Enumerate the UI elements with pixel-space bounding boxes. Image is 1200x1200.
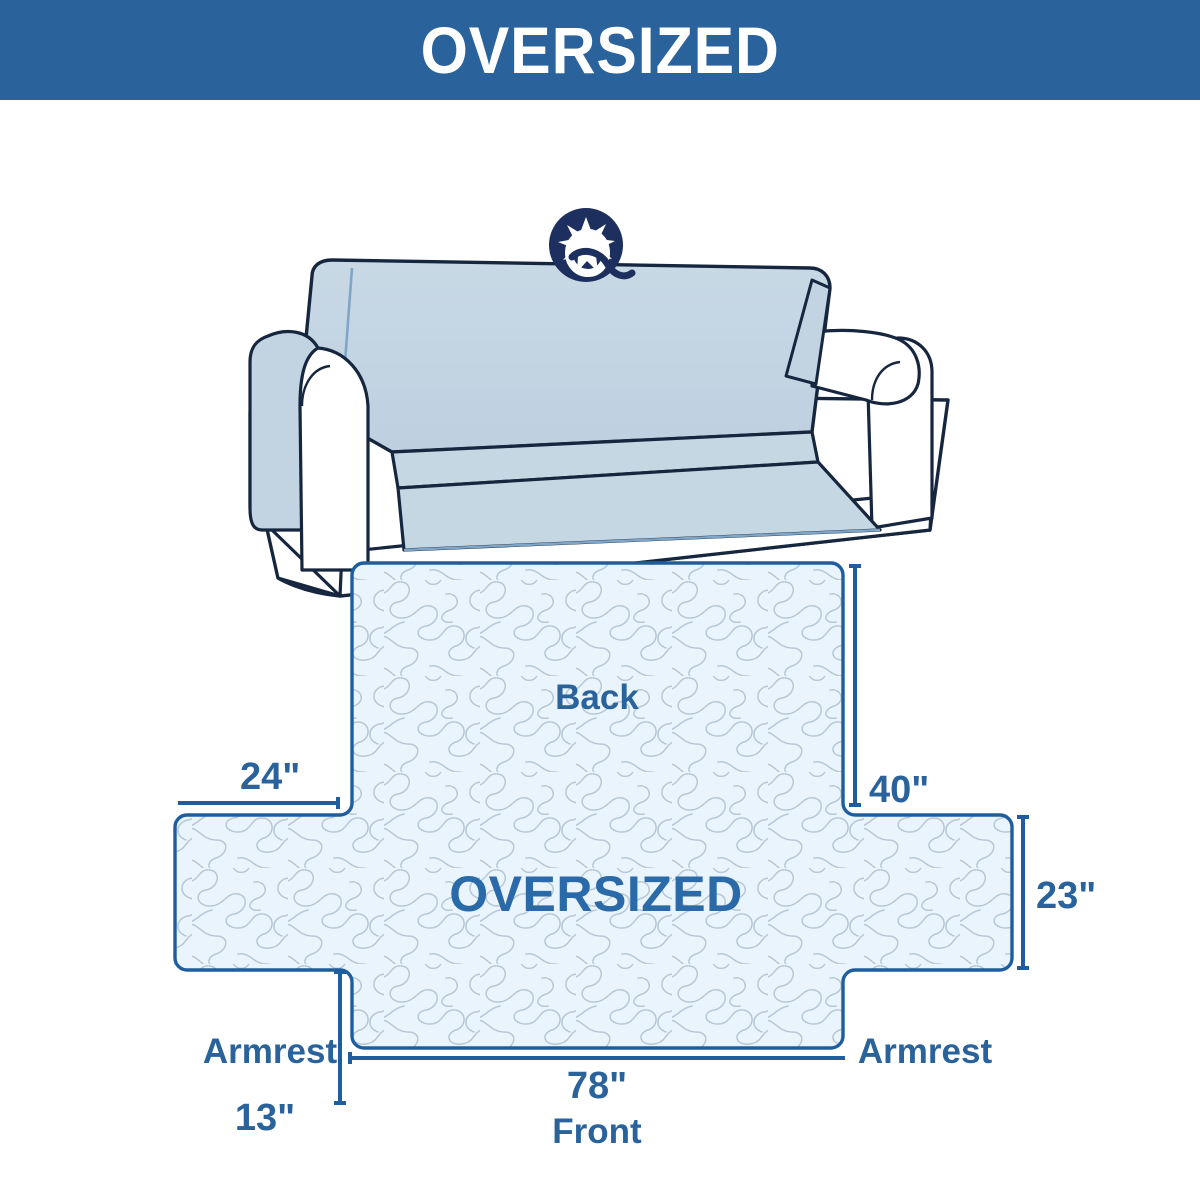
header-banner: OVERSIZED bbox=[0, 0, 1200, 100]
panel-label-armrest-right: Armrest bbox=[858, 1032, 993, 1071]
dimension-armrest-height: 23" bbox=[1017, 817, 1096, 968]
panel-label-front: Front bbox=[552, 1112, 642, 1151]
panel-label-armrest-left: Armrest bbox=[203, 1032, 338, 1071]
panel-label-back: Back bbox=[555, 678, 639, 717]
page-title: OVERSIZED bbox=[420, 17, 779, 83]
pattern-diagram: Back Front Armrest Armrest OVERSIZED 40"… bbox=[175, 563, 1096, 1151]
dimension-value-78: 78" bbox=[567, 1065, 627, 1107]
dimension-value-24: 24" bbox=[240, 756, 300, 798]
dimension-armrest-width: 24" bbox=[178, 756, 338, 809]
dimension-value-40: 40" bbox=[869, 769, 929, 811]
dimension-value-13: 13" bbox=[235, 1097, 295, 1139]
dimension-back-height: 40" bbox=[849, 566, 929, 811]
cover-size-label: OVERSIZED bbox=[449, 866, 742, 922]
dimension-total-width: 78" bbox=[350, 1052, 845, 1107]
sofa-illustration bbox=[250, 208, 948, 596]
dimension-value-23: 23" bbox=[1036, 875, 1096, 917]
diagram-stage: Back Front Armrest Armrest OVERSIZED 40"… bbox=[0, 100, 1200, 1200]
